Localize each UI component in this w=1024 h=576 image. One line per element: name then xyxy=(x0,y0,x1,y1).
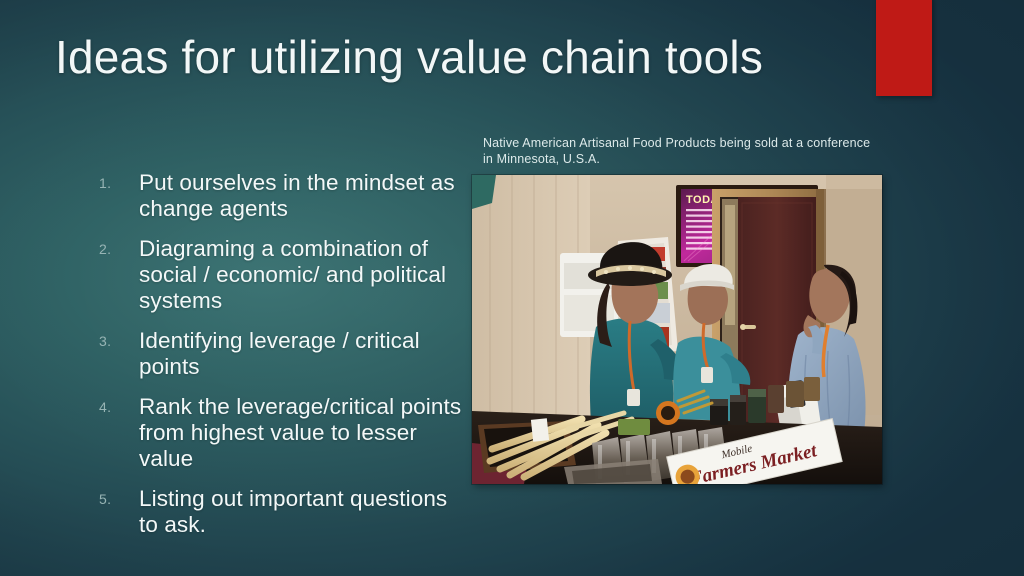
list-item-label: Rank the leverage/critical points from h… xyxy=(139,394,467,472)
list-item-number: 5. xyxy=(95,486,139,512)
numbered-list: 1. Put ourselves in the mindset as chang… xyxy=(95,170,467,552)
list-item-label: Put ourselves in the mindset as change a… xyxy=(139,170,467,222)
photo-illustration: TODAY'S EVENTS Mystic Lake xyxy=(472,175,882,484)
page-title: Ideas for utilizing value chain tools xyxy=(55,33,855,83)
photo-caption: Native American Artisanal Food Products … xyxy=(483,135,875,167)
list-item: 5. Listing out important questions to as… xyxy=(95,486,467,538)
list-item: 1. Put ourselves in the mindset as chang… xyxy=(95,170,467,222)
slide-canvas: Ideas for utilizing value chain tools 1.… xyxy=(0,0,1024,576)
photo-image: TODAY'S EVENTS Mystic Lake xyxy=(472,175,882,484)
list-item-number: 2. xyxy=(95,236,139,262)
list-item: 3. Identifying leverage / critical point… xyxy=(95,328,467,380)
list-item-label: Diagraming a combination of social / eco… xyxy=(139,236,467,314)
list-item: 2. Diagraming a combination of social / … xyxy=(95,236,467,314)
accent-block-red xyxy=(876,0,932,96)
list-item-label: Listing out important questions to ask. xyxy=(139,486,467,538)
list-item-number: 3. xyxy=(95,328,139,354)
list-item-label: Identifying leverage / critical points xyxy=(139,328,467,380)
list-item-number: 4. xyxy=(95,394,139,420)
list-item: 4. Rank the leverage/critical points fro… xyxy=(95,394,467,472)
list-item-number: 1. xyxy=(95,170,139,196)
